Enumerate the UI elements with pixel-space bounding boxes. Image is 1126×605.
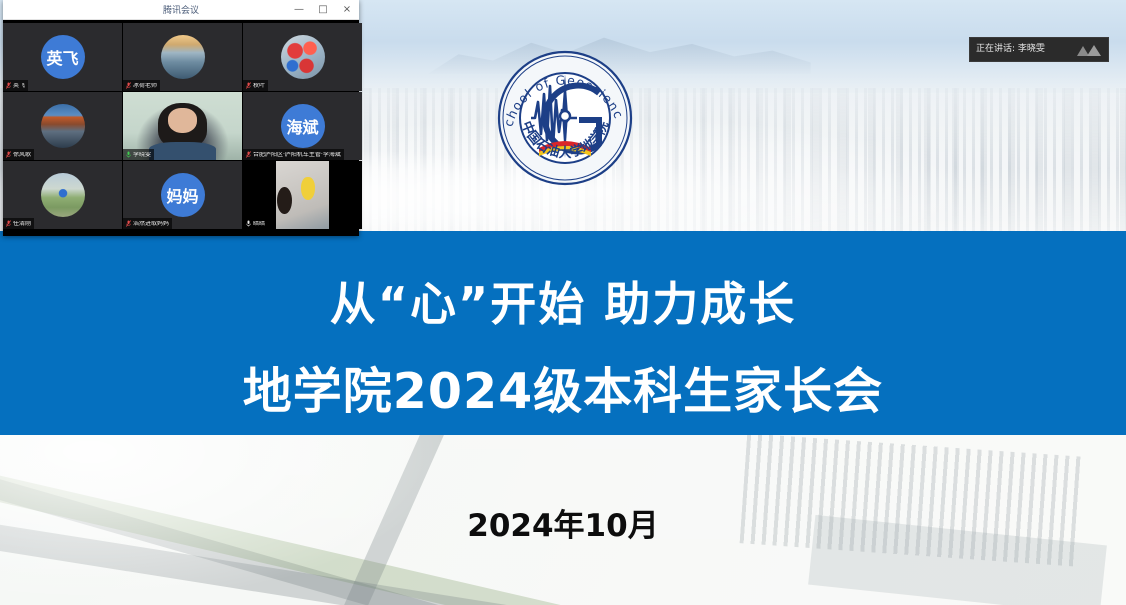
avatar: 海斌 xyxy=(281,104,325,148)
participant-name: 浩然进取妈妈 xyxy=(133,221,169,227)
avatar xyxy=(41,104,85,148)
participant-nametag: 英飞 xyxy=(3,80,28,91)
close-button[interactable]: × xyxy=(335,0,359,20)
participant-tile[interactable]: 英飞 英飞 xyxy=(3,23,122,91)
window-controls: — □ × xyxy=(287,0,359,20)
slide-title-line-1: 从“心”开始 助力成长 xyxy=(0,268,1126,334)
mic-muted-icon xyxy=(246,82,251,89)
school-logo: School of Geosciences 中国石油大学地学院 xyxy=(495,38,635,196)
avatar-image-flower xyxy=(281,35,325,79)
mic-active-icon xyxy=(126,151,131,158)
participant-grid: 英飞 英飞 冰荷老师 xyxy=(3,23,360,229)
participant-tile[interactable]: 任清刚 xyxy=(3,161,122,229)
participant-tile[interactable]: 暗暗 xyxy=(243,161,362,229)
maximize-button[interactable]: □ xyxy=(311,0,335,20)
participant-nametag: 冰荷老师 xyxy=(123,80,160,91)
presentation-slide: School of Geosciences 中国石油大学地学院 从“心”开始 助… xyxy=(0,0,1126,605)
participant-nametag: 李晓雯 xyxy=(123,149,154,160)
seismic-wave-globe-emblem-icon: School of Geosciences 中国石油大学地学院 xyxy=(495,38,635,196)
fog-layer-center xyxy=(338,120,957,240)
video-grid-area: 英飞 英飞 冰荷老师 xyxy=(3,20,359,236)
window-titlebar[interactable]: 腾讯会议 — □ × xyxy=(3,0,359,20)
avatar: 妈妈 xyxy=(161,173,205,217)
participant-name: 李晓雯 xyxy=(133,152,151,158)
avatar-image-bike xyxy=(41,173,85,217)
participant-name: 任清刚 xyxy=(13,221,31,227)
slide-date: 2024年10月 xyxy=(0,500,1126,545)
audio-wave-icon xyxy=(1076,43,1102,57)
mic-muted-icon xyxy=(126,82,131,89)
avatar-image-sea xyxy=(161,35,205,79)
avatar xyxy=(161,35,205,79)
video-person-face xyxy=(168,108,197,132)
avatar-image-mountain xyxy=(41,104,85,148)
participant-nametag: 任清刚 xyxy=(3,218,34,229)
avatar xyxy=(41,173,85,217)
participant-tile[interactable]: 冰荷老师 xyxy=(123,23,242,91)
participant-name: 英飞 xyxy=(13,83,25,89)
participant-nametag: 浩然进取妈妈 xyxy=(123,218,172,229)
avatar xyxy=(281,35,325,79)
participant-tile[interactable]: 徐风歌 xyxy=(3,92,122,160)
video-feed xyxy=(276,161,328,229)
video-person-head xyxy=(277,187,292,214)
avatar: 英飞 xyxy=(41,35,85,79)
video-toy-object xyxy=(301,177,315,200)
mic-active-icon xyxy=(246,220,251,227)
tencent-meeting-window[interactable]: 腾讯会议 — □ × 英飞 英飞 xyxy=(3,0,359,236)
participant-nametag: 秋叶 xyxy=(243,80,268,91)
minimize-button[interactable]: — xyxy=(287,0,311,20)
participant-name: 冰荷老师 xyxy=(133,83,157,89)
participant-nametag: 暗暗 xyxy=(243,218,268,229)
participant-nametag: 徐风歌 xyxy=(3,149,34,160)
active-speaker-badge: 正在讲话: 李晓雯 xyxy=(969,37,1109,62)
participant-tile[interactable]: 妈妈 浩然进取妈妈 xyxy=(123,161,242,229)
participant-name: 秋叶 xyxy=(253,83,265,89)
active-speaker-label: 正在讲话: 李晓雯 xyxy=(976,45,1076,54)
mic-muted-icon xyxy=(6,151,11,158)
participant-tile[interactable]: 海斌 合肥庐阳区·庐阳机车主管·李海斌 xyxy=(243,92,362,160)
participant-name: 徐风歌 xyxy=(13,152,31,158)
participant-name: 合肥庐阳区·庐阳机车主管·李海斌 xyxy=(253,152,341,158)
mic-muted-icon xyxy=(246,151,251,158)
slide-title-line-2: 地学院2024级本科生家长会 xyxy=(0,352,1126,423)
mic-muted-icon xyxy=(126,220,131,227)
mic-muted-icon xyxy=(6,82,11,89)
participant-tile-active-speaker[interactable]: 李晓雯 xyxy=(123,92,242,160)
video-person-body xyxy=(149,142,216,160)
participant-nametag: 合肥庐阳区·庐阳机车主管·李海斌 xyxy=(243,149,344,160)
mic-muted-icon xyxy=(6,220,11,227)
participant-name: 暗暗 xyxy=(253,221,265,227)
participant-tile[interactable]: 秋叶 xyxy=(243,23,362,91)
